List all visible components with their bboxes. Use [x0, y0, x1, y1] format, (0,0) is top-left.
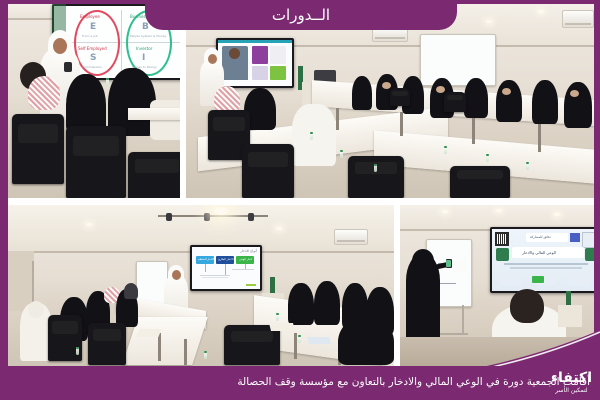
quadrant-letter-e: E — [90, 22, 96, 32]
quadrant-label-investor: Investor — [136, 46, 152, 51]
qr-slide-heading: الوعي المالي والادخار — [522, 250, 556, 255]
logo-name: اكتفاء — [551, 371, 592, 385]
savings-box-label-2: الادخار الطارئ — [218, 258, 234, 261]
frame-edge-left — [0, 0, 8, 400]
photo-top-right — [186, 4, 594, 198]
quadrant-letter-i: I — [142, 53, 145, 63]
caption-bar: أقامت الجمعية دورة في الوعي المالي والاد… — [0, 366, 600, 400]
frame-edge-right — [594, 0, 600, 400]
savings-box-label-3: ادخار الهدف — [239, 258, 252, 261]
quadrant-letter-b: B — [142, 22, 149, 32]
presentation-screen-qr: دقائق للمشاركة الوعي المالي والادخار — [490, 227, 594, 293]
presenter-face — [53, 38, 67, 54]
title-banner: الــدورات — [145, 0, 457, 30]
slide-heading: أنواع الادخار — [240, 249, 257, 253]
savings-box-label-1: الادخار المنتظم — [198, 258, 214, 261]
presentation-screen-video — [216, 38, 294, 88]
photo-bottom-left: أنواع الادخار الادخار المنتظم الادخار ال… — [8, 205, 394, 366]
quadrant-sub-business: People System & Money — [130, 34, 166, 38]
logo-tagline: لتمكين الأسر — [551, 388, 592, 394]
course-poster: Employee E From a job Business Owner B P… — [0, 0, 600, 400]
quadrant-letter-s: S — [90, 53, 96, 63]
photo-top-left: Employee E From a job Business Owner B P… — [8, 4, 180, 198]
photo-bottom-right: دقائق للمشاركة الوعي المالي والادخار — [400, 205, 594, 366]
quadrant-label-selfemployed: Self Employed — [78, 46, 107, 51]
attendee-abaya — [66, 74, 106, 134]
quadrant-sub-selfemployed: Commissions — [82, 65, 102, 69]
presentation-screen-savings: أنواع الادخار الادخار المنتظم الادخار ال… — [190, 245, 262, 291]
quadrant-sub-employee: From a job — [82, 34, 98, 38]
photo-collage: Employee E From a job Business Owner B P… — [0, 0, 600, 400]
air-conditioner — [562, 10, 594, 28]
page-title: الــدورات — [272, 8, 330, 23]
organization-logo: اكتفاء لتمكين الأسر — [551, 371, 592, 394]
quadrant-label-employee: Employee — [80, 14, 100, 19]
attendee-headdress-red — [28, 76, 60, 110]
caption-text: أقامت الجمعية دورة في الوعي المالي والاد… — [70, 376, 600, 389]
qr-slide-subtitle: دقائق للمشاركة — [530, 235, 551, 239]
